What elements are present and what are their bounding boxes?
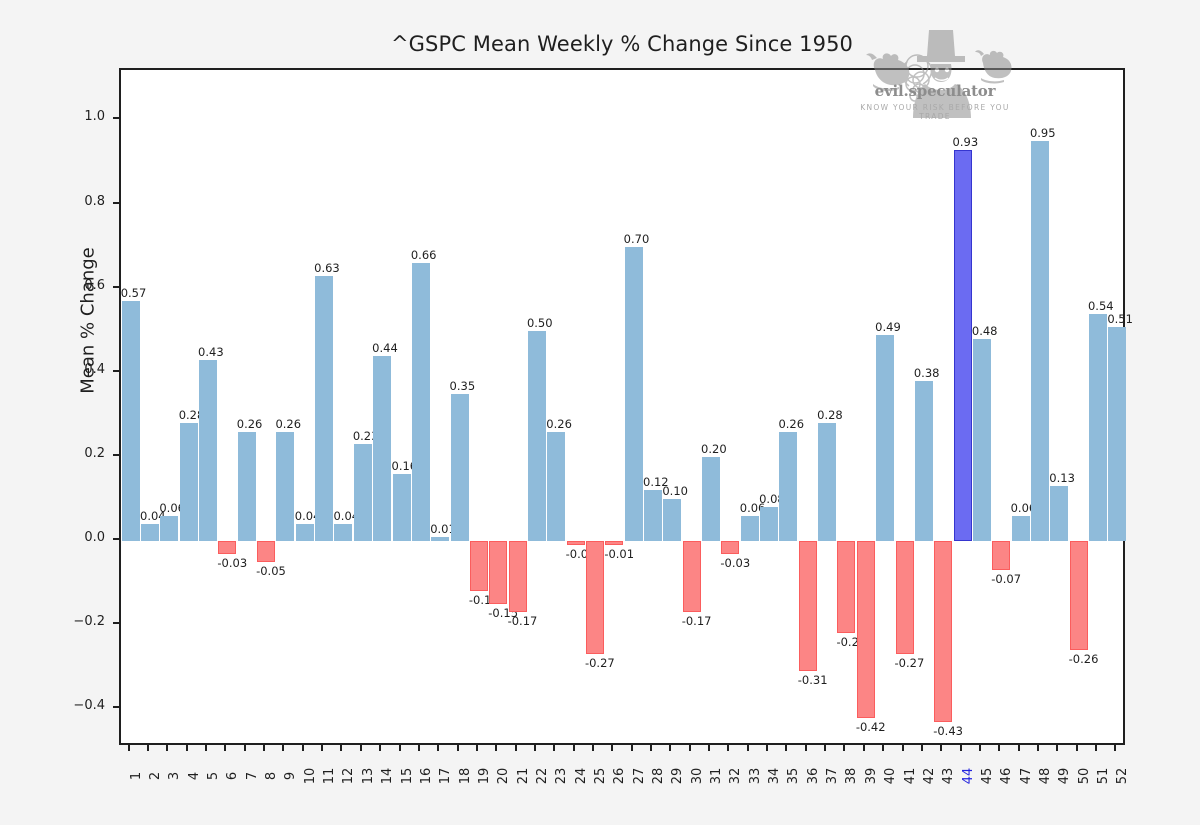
x-axis-tick-label-52: 52 — [1115, 756, 1130, 796]
bar-week-7[interactable] — [238, 432, 256, 541]
x-axis-tick-label-47: 47 — [1019, 756, 1034, 796]
x-axis-tick-label-50: 50 — [1077, 756, 1092, 796]
bar-value-label-42: 0.38 — [914, 366, 940, 380]
x-axis-tick-label-15: 15 — [400, 756, 415, 796]
bar-week-26[interactable] — [605, 541, 623, 545]
x-axis-tick-label-6: 6 — [225, 756, 240, 796]
x-axis-tick-label-49: 49 — [1057, 756, 1072, 796]
x-axis-tick-label-19: 19 — [477, 756, 492, 796]
bar-value-label-14: 0.44 — [372, 341, 398, 355]
x-axis-tick-mark — [650, 745, 652, 751]
bar-value-label-39: -0.42 — [856, 720, 886, 734]
y-axis-tick-label: 0.8 — [84, 194, 105, 209]
bar-value-label-30: -0.17 — [682, 614, 712, 628]
x-axis-tick-label-24: 24 — [574, 756, 589, 796]
x-axis-tick-mark — [940, 745, 942, 751]
watermark-brand: evil.speculator — [855, 82, 1015, 100]
x-axis-tick-label-48: 48 — [1038, 756, 1053, 796]
x-axis-tick-mark — [186, 745, 188, 751]
x-axis-tick-label-20: 20 — [496, 756, 511, 796]
bar-week-15[interactable] — [393, 474, 411, 541]
x-axis-tick-label-35: 35 — [786, 756, 801, 796]
bar-week-11[interactable] — [315, 276, 333, 541]
bar-value-label-50: -0.26 — [1069, 652, 1099, 666]
bar-value-label-11: 0.63 — [314, 261, 340, 275]
x-axis-tick-label-9: 9 — [283, 756, 298, 796]
bar-value-label-25: -0.27 — [585, 656, 615, 670]
x-axis-tick-mark — [708, 745, 710, 751]
x-axis-tick-label-40: 40 — [883, 756, 898, 796]
x-axis-tick-label-17: 17 — [438, 756, 453, 796]
bar-value-label-48: 0.95 — [1030, 126, 1056, 140]
bar-value-label-18: 0.35 — [450, 379, 476, 393]
bar-week-4[interactable] — [180, 423, 198, 541]
x-axis-tick-mark — [592, 745, 594, 751]
bar-week-43[interactable] — [934, 541, 952, 722]
x-axis-tick-label-51: 51 — [1096, 756, 1111, 796]
bar-week-37[interactable] — [818, 423, 836, 541]
x-axis-tick-mark — [205, 745, 207, 751]
x-axis-tick-mark — [1037, 745, 1039, 751]
bar-week-41[interactable] — [896, 541, 914, 655]
bar-week-24[interactable] — [567, 541, 585, 545]
x-axis-tick-label-34: 34 — [767, 756, 782, 796]
bar-value-label-46: -0.07 — [991, 572, 1021, 586]
x-axis-tick-label-27: 27 — [632, 756, 647, 796]
x-axis-tick-mark — [747, 745, 749, 751]
x-axis-tick-label-3: 3 — [167, 756, 182, 796]
bar-value-label-35: 0.26 — [778, 417, 804, 431]
bar-week-29[interactable] — [663, 499, 681, 541]
x-axis-tick-mark — [224, 745, 226, 751]
x-axis-tick-label-26: 26 — [612, 756, 627, 796]
x-axis-tick-mark — [244, 745, 246, 751]
bar-week-1[interactable] — [122, 301, 140, 541]
x-axis-tick-mark — [902, 745, 904, 751]
x-axis-tick-label-30: 30 — [690, 756, 705, 796]
bar-week-48[interactable] — [1031, 141, 1049, 540]
x-axis-tick-label-14: 14 — [380, 756, 395, 796]
bar-week-44[interactable] — [954, 150, 972, 541]
x-axis-tick-label-21: 21 — [516, 756, 531, 796]
x-axis-tick-label-33: 33 — [748, 756, 763, 796]
x-axis-tick-label-36: 36 — [806, 756, 821, 796]
x-axis-tick-mark — [437, 745, 439, 751]
x-axis-tick-mark — [1114, 745, 1116, 751]
bar-week-28[interactable] — [644, 490, 662, 540]
bar-week-38[interactable] — [837, 541, 855, 634]
bars-container: 0.570.040.060.280.43-0.030.26-0.050.260.… — [121, 70, 1123, 743]
bar-value-label-43: -0.43 — [933, 724, 963, 738]
bar-week-19[interactable] — [470, 541, 488, 591]
y-axis-tick-label: −0.4 — [73, 698, 105, 713]
bar-week-16[interactable] — [412, 263, 430, 541]
x-axis-tick-label-8: 8 — [264, 756, 279, 796]
bar-value-label-27: 0.70 — [624, 232, 650, 246]
x-axis-tick-mark — [960, 745, 962, 751]
x-axis-tick-mark — [476, 745, 478, 751]
y-axis-tick-label: 0.6 — [84, 278, 105, 293]
y-axis-tick-label: 1.0 — [84, 109, 105, 124]
plot-area: 0.570.040.060.280.43-0.030.26-0.050.260.… — [119, 68, 1125, 745]
x-axis-tick-mark — [998, 745, 1000, 751]
x-axis-tick-mark — [805, 745, 807, 751]
bar-week-12[interactable] — [334, 524, 352, 541]
x-axis-tick-mark — [689, 745, 691, 751]
bar-week-32[interactable] — [721, 541, 739, 554]
bar-week-49[interactable] — [1050, 486, 1068, 541]
bar-value-label-36: -0.31 — [798, 673, 828, 687]
x-axis-tick-mark — [534, 745, 536, 751]
x-axis-tick-mark — [360, 745, 362, 751]
x-axis-tick-mark — [766, 745, 768, 751]
bar-week-39[interactable] — [857, 541, 875, 718]
bar-week-50[interactable] — [1070, 541, 1088, 650]
x-axis-tick-mark — [1095, 745, 1097, 751]
x-axis-tick-mark — [399, 745, 401, 751]
bar-value-label-49: 0.13 — [1049, 471, 1075, 485]
x-axis-tick-label-7: 7 — [245, 756, 260, 796]
bar-week-42[interactable] — [915, 381, 933, 541]
bar-value-label-21: -0.17 — [508, 614, 538, 628]
bar-value-label-5: 0.43 — [198, 345, 224, 359]
y-axis-tick-label: 0.0 — [84, 530, 105, 545]
x-axis-tick-mark — [843, 745, 845, 751]
bar-week-30[interactable] — [683, 541, 701, 612]
x-axis-tick-label-44: 44 — [961, 756, 976, 796]
x-axis-tick-mark — [979, 745, 981, 751]
bar-week-36[interactable] — [799, 541, 817, 671]
x-axis-tick-label-12: 12 — [341, 756, 356, 796]
bar-week-20[interactable] — [489, 541, 507, 604]
bar-week-13[interactable] — [354, 444, 372, 541]
bar-week-14[interactable] — [373, 356, 391, 541]
x-axis-tick-label-11: 11 — [322, 756, 337, 796]
bar-value-label-31: 0.20 — [701, 442, 727, 456]
bar-week-6[interactable] — [218, 541, 236, 554]
x-axis-tick-mark — [785, 745, 787, 751]
bar-week-45[interactable] — [973, 339, 991, 541]
chart-figure: ^GSPC Mean Weekly % Change Since 1950 Me… — [0, 0, 1200, 825]
x-axis-tick-mark — [611, 745, 613, 751]
bar-week-51[interactable] — [1089, 314, 1107, 541]
x-axis-tick-label-31: 31 — [709, 756, 724, 796]
x-axis-tick-label-10: 10 — [303, 756, 318, 796]
x-axis-tick-mark — [1056, 745, 1058, 751]
bar-week-18[interactable] — [451, 394, 469, 541]
bar-value-label-1: 0.57 — [121, 286, 147, 300]
bar-value-label-26: -0.01 — [604, 547, 634, 561]
bar-value-label-32: -0.03 — [720, 556, 750, 570]
x-axis-tick-label-43: 43 — [941, 756, 956, 796]
bar-value-label-7: 0.26 — [237, 417, 263, 431]
y-axis-tick-label: 0.4 — [84, 362, 105, 377]
y-axis-label: Mean % Change — [78, 221, 99, 421]
bar-week-46[interactable] — [992, 541, 1010, 570]
x-axis-tick-label-22: 22 — [535, 756, 550, 796]
bar-value-label-22: 0.50 — [527, 316, 553, 330]
x-axis-tick-mark — [1018, 745, 1020, 751]
x-axis-tick-label-41: 41 — [903, 756, 918, 796]
x-axis-tick-mark — [921, 745, 923, 751]
x-axis-tick-label-45: 45 — [980, 756, 995, 796]
x-axis-tick-mark — [573, 745, 575, 751]
bar-week-40[interactable] — [876, 335, 894, 541]
x-axis-tick-mark — [553, 745, 555, 751]
y-axis-tick-label: 0.2 — [84, 446, 105, 461]
bar-week-35[interactable] — [779, 432, 797, 541]
x-axis-tick-label-38: 38 — [844, 756, 859, 796]
x-axis-tick-label-2: 2 — [148, 756, 163, 796]
x-axis-tick-label-42: 42 — [922, 756, 937, 796]
x-axis-tick-mark — [631, 745, 633, 751]
x-axis-tick-label-39: 39 — [864, 756, 879, 796]
bar-week-25[interactable] — [586, 541, 604, 655]
x-axis-tick-mark — [340, 745, 342, 751]
bar-week-22[interactable] — [528, 331, 546, 541]
x-axis-tick-label-13: 13 — [361, 756, 376, 796]
x-axis-tick-mark — [863, 745, 865, 751]
x-axis-tick-label-23: 23 — [554, 756, 569, 796]
x-axis-tick-mark — [263, 745, 265, 751]
x-axis-tick-label-18: 18 — [458, 756, 473, 796]
x-axis-tick-mark — [882, 745, 884, 751]
x-axis-tick-mark — [495, 745, 497, 751]
x-axis-tick-mark — [418, 745, 420, 751]
x-axis-tick-label-5: 5 — [206, 756, 221, 796]
bar-week-33[interactable] — [741, 516, 759, 541]
bar-week-10[interactable] — [296, 524, 314, 541]
bar-week-9[interactable] — [276, 432, 294, 541]
x-axis-tick-mark — [1076, 745, 1078, 751]
x-axis-tick-mark — [147, 745, 149, 751]
bar-week-34[interactable] — [760, 507, 778, 541]
x-axis-tick-label-4: 4 — [187, 756, 202, 796]
bar-value-label-23: 0.26 — [546, 417, 572, 431]
bar-value-label-8: -0.05 — [256, 564, 286, 578]
x-axis-tick-mark — [128, 745, 130, 751]
x-axis-tick-label-25: 25 — [593, 756, 608, 796]
x-axis-tick-label-29: 29 — [670, 756, 685, 796]
x-axis-tick-mark — [166, 745, 168, 751]
x-axis-tick-mark — [727, 745, 729, 751]
bar-week-31[interactable] — [702, 457, 720, 541]
bar-value-label-29: 0.10 — [662, 484, 688, 498]
x-axis-tick-label-16: 16 — [419, 756, 434, 796]
x-axis-tick-mark — [457, 745, 459, 751]
bar-week-52[interactable] — [1108, 327, 1126, 541]
bar-week-17[interactable] — [431, 537, 449, 541]
x-axis-tick-label-46: 46 — [999, 756, 1014, 796]
x-axis-tick-mark — [379, 745, 381, 751]
bar-value-label-41: -0.27 — [895, 656, 925, 670]
bar-value-label-44: 0.93 — [953, 135, 979, 149]
x-axis-tick-mark — [321, 745, 323, 751]
watermark-tagline: KNOW YOUR RISK BEFORE YOU TRADE — [845, 103, 1025, 121]
bar-week-3[interactable] — [160, 516, 178, 541]
x-axis-tick-mark — [669, 745, 671, 751]
bar-value-label-45: 0.48 — [972, 324, 998, 338]
x-axis-tick-mark — [302, 745, 304, 751]
x-axis-tick-mark — [282, 745, 284, 751]
bar-week-27[interactable] — [625, 247, 643, 541]
bar-value-label-40: 0.49 — [875, 320, 901, 334]
x-axis-tick-mark — [515, 745, 517, 751]
x-axis-tick-label-32: 32 — [728, 756, 743, 796]
bar-value-label-52: 0.51 — [1107, 312, 1133, 326]
bar-value-label-16: 0.66 — [411, 248, 437, 262]
x-axis-tick-mark — [824, 745, 826, 751]
bar-week-21[interactable] — [509, 541, 527, 612]
bar-value-label-9: 0.26 — [275, 417, 301, 431]
bar-week-5[interactable] — [199, 360, 217, 541]
bar-value-label-37: 0.28 — [817, 408, 843, 422]
y-axis-tick-label: −0.2 — [73, 614, 105, 629]
x-axis-tick-label-37: 37 — [825, 756, 840, 796]
bar-week-2[interactable] — [141, 524, 159, 541]
x-axis-tick-label-28: 28 — [651, 756, 666, 796]
x-axis-tick-label-1: 1 — [129, 756, 144, 796]
chart-title: ^GSPC Mean Weekly % Change Since 1950 — [119, 32, 1125, 56]
bar-week-47[interactable] — [1012, 516, 1030, 541]
bar-value-label-6: -0.03 — [217, 556, 247, 570]
bar-week-8[interactable] — [257, 541, 275, 562]
bar-week-23[interactable] — [547, 432, 565, 541]
